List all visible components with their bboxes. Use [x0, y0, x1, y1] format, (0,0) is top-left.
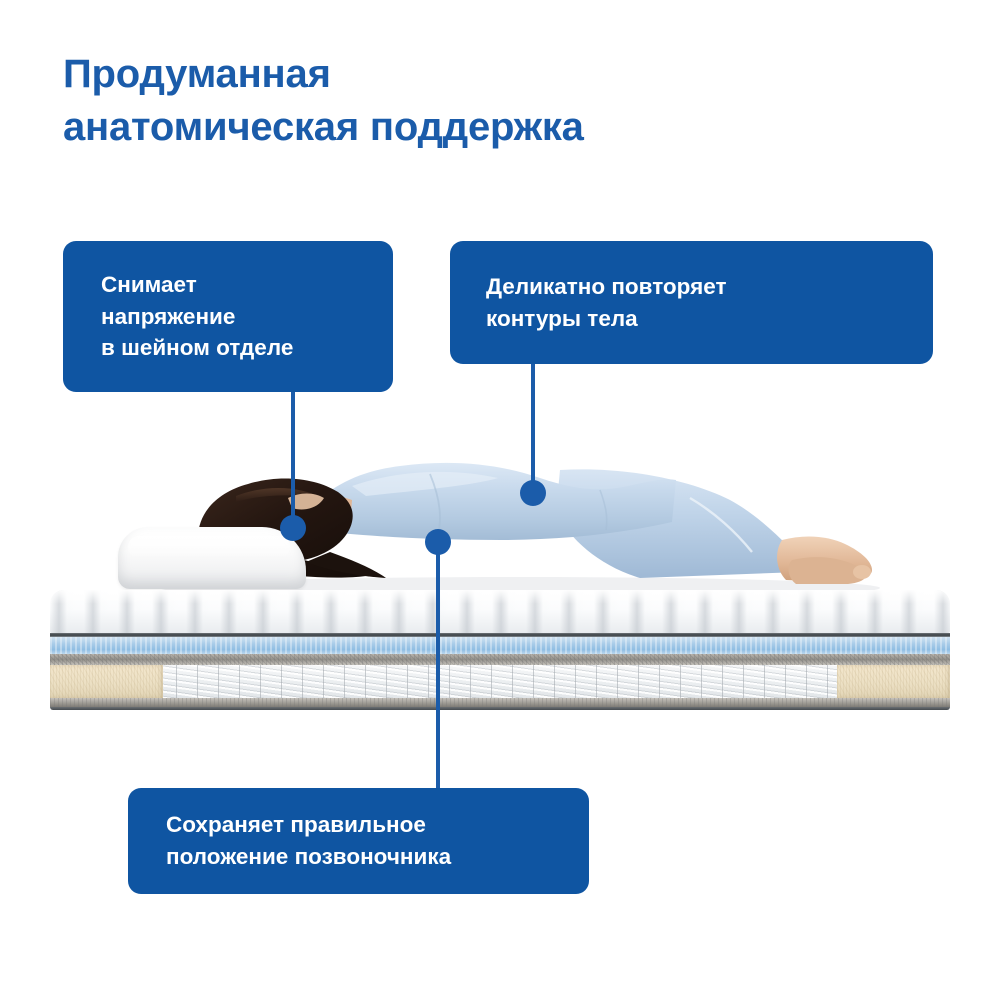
- shirt-fold: [600, 490, 607, 530]
- mattress-cross-section: [50, 590, 950, 710]
- pajama-hem-seam: [690, 498, 752, 552]
- mattress-felt-layer-bottom: [50, 698, 950, 707]
- infographic-canvas: Продуманная анатомическая поддержка: [0, 0, 1000, 1000]
- pajama-legs: [556, 469, 800, 578]
- mattress-pocket-spring-core: [50, 665, 950, 698]
- hair-highlight: [236, 488, 322, 502]
- connector-line-contour: [531, 364, 535, 493]
- connector-line-neck: [291, 392, 295, 528]
- foot-upper: [777, 537, 872, 582]
- callout-neck: Снимает напряжение в шейном отделе: [63, 241, 393, 392]
- connector-dot-contour: [520, 480, 546, 506]
- callout-spine-line-2: положение позвоночника: [166, 841, 589, 873]
- callout-neck-line-2: напряжение: [101, 301, 393, 333]
- mattress-quilted-cover: [50, 590, 950, 633]
- pillow: [118, 527, 306, 589]
- hair-strands: [306, 552, 386, 578]
- page-title-line-2: анатомическая поддержка: [63, 101, 823, 154]
- mattress-base-edge: [50, 707, 950, 710]
- pillow-body: [118, 527, 306, 589]
- callout-contour-line-2: контуры тела: [486, 303, 933, 335]
- shoulder-highlight: [352, 472, 498, 496]
- pocket-springs: [50, 665, 950, 698]
- callout-spine-text: Сохраняет правильное положение позвоночн…: [166, 809, 589, 873]
- callout-contour-text: Деликатно повторяет контуры тела: [486, 271, 933, 335]
- page-title: Продуманная анатомическая поддержка: [63, 48, 823, 154]
- callout-spine-line-1: Сохраняет правильное: [166, 809, 589, 841]
- connector-line-spine: [436, 540, 440, 790]
- callout-contour-line-1: Деликатно повторяет: [486, 271, 933, 303]
- toe: [853, 565, 871, 579]
- callout-neck-line-3: в шейном отделе: [101, 332, 393, 364]
- callout-neck-text: Снимает напряжение в шейном отделе: [101, 269, 393, 365]
- callout-spine: Сохраняет правильное положение позвоночн…: [128, 788, 589, 894]
- callout-neck-line-1: Снимает: [101, 269, 393, 301]
- mattress-blue-foam-layer: [50, 637, 950, 654]
- sleeve-fold: [430, 474, 440, 534]
- neck: [300, 496, 352, 529]
- mattress-felt-layer-top: [50, 654, 950, 665]
- foot-lower: [789, 557, 866, 584]
- callout-contour: Деликатно повторяет контуры тела: [450, 241, 933, 364]
- pajama-shirt: [300, 463, 676, 540]
- connector-dot-neck: [280, 515, 306, 541]
- page-title-line-1: Продуманная: [63, 48, 823, 101]
- mattress-side-support-foam-left: [50, 665, 163, 698]
- mattress-side-support-foam-right: [837, 665, 950, 698]
- connector-dot-spine: [425, 529, 451, 555]
